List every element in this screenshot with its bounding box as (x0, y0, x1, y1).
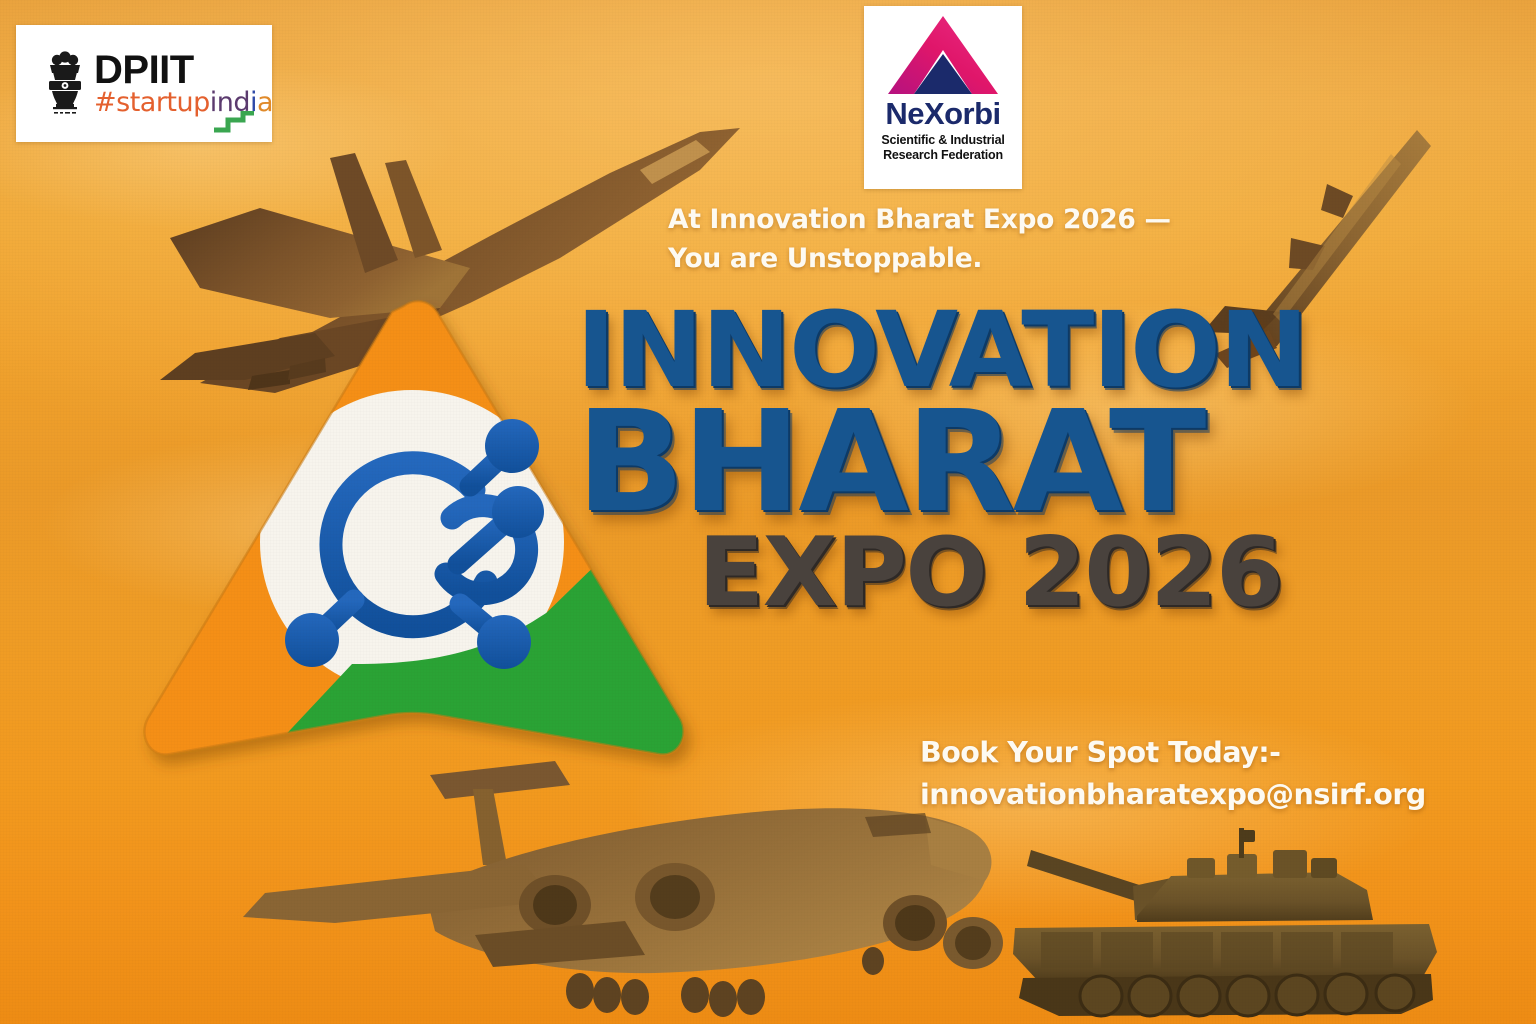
battle-tank-silhouette (1005, 828, 1450, 1024)
tagline-line-2: You are Unstoppable. (668, 239, 1348, 278)
ashoka-lion-capital-icon (44, 49, 86, 119)
cargo-plane-icon (243, 761, 1003, 1017)
page-title: INNOVATION BHARAT EXPO 2026 (576, 300, 1366, 619)
tagline: At Innovation Bharat Expo 2026 — You are… (668, 200, 1348, 278)
startupindia-hash-startup: #startup (94, 87, 210, 118)
tagline-line-1: At Innovation Bharat Expo 2026 — (668, 200, 1348, 239)
startupindia-wordmark: #startupindia (94, 89, 273, 116)
dpiit-acronym: DPIIT (94, 51, 273, 89)
headline-line-bharat: BHARAT (576, 395, 1382, 531)
nexorbi-brand-name: NeXorbi (885, 98, 1000, 129)
startupindia-a: a (257, 87, 273, 118)
nexorbi-logo: NeXorbi Scientific & Industrial Research… (864, 6, 1022, 189)
nexorbi-subtitle-line-2: Research Federation (881, 148, 1004, 163)
cargo-plane-silhouette (225, 755, 1025, 1024)
booking-email[interactable]: innovationbharatexpo@nsirf.org (920, 774, 1520, 816)
booking-info: Book Your Spot Today:- innovationbharate… (920, 732, 1520, 816)
tank-icon (1013, 828, 1437, 1016)
green-step-arrow-icon (212, 111, 256, 133)
poster-canvas: At Innovation Bharat Expo 2026 — You are… (0, 0, 1536, 1024)
booking-label: Book Your Spot Today:- (920, 732, 1520, 774)
nexorbi-subtitle-line-1: Scientific & Industrial (881, 133, 1004, 148)
dpiit-startupindia-logo: DPIIT #startupindia (16, 25, 272, 142)
chevron-up-mark-icon (884, 14, 1002, 96)
headline-line-expo-2026: EXPO 2026 (698, 527, 1379, 619)
